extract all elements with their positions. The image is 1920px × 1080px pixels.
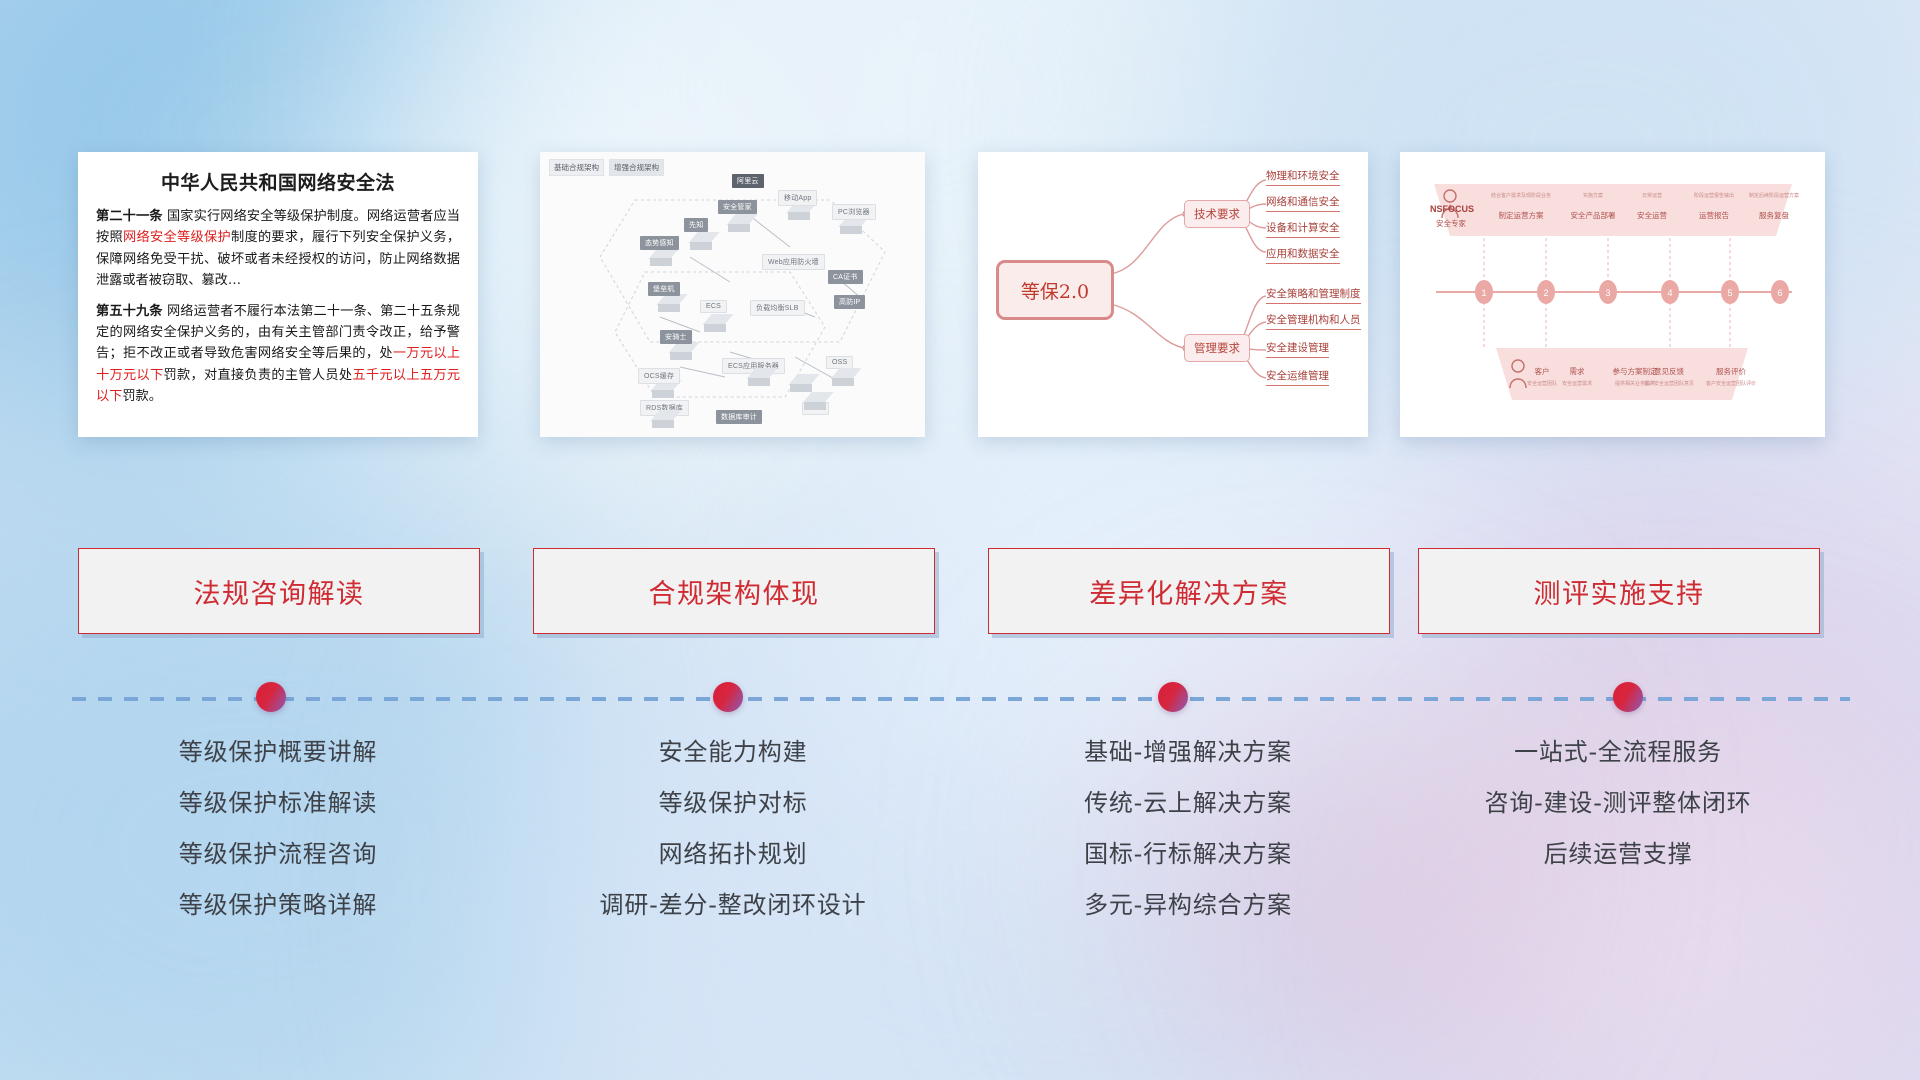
list-item: 等级保护标准解读 — [78, 791, 478, 815]
list-item: 等级保护策略详解 — [78, 893, 478, 917]
svg-text:1: 1 — [1481, 288, 1486, 298]
image-card-row: 中华人民共和国网络安全法 第二十一条 国家实行网络安全等级保护制度。网络运营者应… — [0, 152, 1920, 442]
top-step-note-2: 实施方案 — [1560, 192, 1626, 199]
mindmap-leaf-org: 安全管理机构和人员 — [1266, 312, 1361, 330]
list-item: 调研-差分-整改闭环设计 — [533, 893, 933, 917]
node-xianzhi: 先知 — [684, 218, 708, 232]
article-21-highlight: 网络安全等级保护 — [123, 230, 231, 245]
section-item-list-1: 等级保护概要讲解 等级保护标准解读 等级保护流程咨询 等级保护策略详解 — [78, 740, 478, 944]
mindmap-leaf-construction: 安全建设管理 — [1266, 340, 1329, 358]
node-bastion-host: 堡垒机 — [648, 282, 680, 296]
node-situational-awareness: 态势感知 — [640, 236, 679, 250]
expert-role: 安全专家 — [1430, 218, 1472, 229]
node-aliyun: 阿里云 — [732, 174, 764, 188]
node-anti-ddos-ip: 高防IP — [834, 295, 865, 309]
node-ecs: ECS — [700, 300, 727, 313]
law-article-21: 第二十一条 国家实行网络安全等级保护制度。网络运营者应当按照网络安全等级保护制度… — [96, 206, 460, 292]
svg-text:5: 5 — [1727, 288, 1732, 298]
architecture-connectors — [540, 152, 925, 437]
list-item: 咨询-建设-测评整体闭环 — [1418, 791, 1818, 815]
bottom-step-note-1: 安全运营需求 — [1550, 380, 1604, 387]
list-item: 传统-云上解决方案 — [988, 791, 1388, 815]
top-step-note-3: 日常运营 — [1624, 192, 1680, 199]
top-step-title-2: 安全产品部署 — [1560, 210, 1626, 221]
mindmap-leaf-network: 网络和通信安全 — [1266, 194, 1340, 212]
svg-text:4: 4 — [1667, 288, 1672, 298]
section-item-list-3: 基础-增强解决方案 传统-云上解决方案 国标-行标解决方案 多元-异构综合方案 — [988, 740, 1388, 944]
article-21-label: 第二十一条 — [96, 209, 163, 224]
article-59-label: 第五十九条 — [96, 304, 163, 319]
bottom-step-title-3: 意见反馈 — [1644, 366, 1694, 377]
article-59-part2: 罚款，对直接负责的主管人员处 — [163, 368, 352, 383]
section-title-box-2[interactable]: 合规架构体现 — [533, 548, 935, 634]
node-mobile-app: 移动App — [778, 190, 817, 206]
list-item: 等级保护流程咨询 — [78, 842, 478, 866]
card-process-timeline: 123 456 NSFOCUS 安全专家 客户 安全运营团队 结合客户需求及现阶… — [1400, 152, 1825, 437]
timeline-dashed-line — [72, 697, 1850, 701]
section-title-box-4[interactable]: 测评实施支持 — [1418, 548, 1820, 634]
mindmap-leaf-application: 应用和数据安全 — [1266, 246, 1340, 264]
timeline-dot-1 — [256, 682, 286, 712]
list-item: 安全能力构建 — [533, 740, 933, 764]
node-pc-browser: PC浏览器 — [832, 204, 876, 220]
node-security-butler: 安全管家 — [718, 200, 757, 214]
article-59-part3: 罚款。 — [122, 389, 162, 404]
section-title-label-3: 差异化解决方案 — [1089, 572, 1289, 611]
top-step-title-5: 服务复盘 — [1742, 210, 1806, 221]
list-item: 等级保护概要讲解 — [78, 740, 478, 764]
top-step-note-4: 阶段运营报告输出 — [1682, 192, 1746, 199]
top-step-title-3: 安全运营 — [1624, 210, 1680, 221]
section-item-list-2: 安全能力构建 等级保护对标 网络拓扑规划 调研-差分-整改闭环设计 — [533, 740, 933, 944]
list-item: 多元-异构综合方案 — [988, 893, 1388, 917]
bottom-step-title-1: 需求 — [1560, 366, 1594, 377]
mindmap-branch-management: 管理要求 — [1184, 334, 1250, 362]
node-anqishi: 安骑士 — [660, 330, 692, 344]
section-title-label-4: 测评实施支持 — [1534, 572, 1705, 611]
timeline-dot-4 — [1613, 682, 1643, 712]
node-ocs-cache: OCS缓存 — [638, 368, 680, 384]
svg-text:2: 2 — [1543, 288, 1548, 298]
law-article-59: 第五十九条 网络运营者不履行本法第二十一条、第二十五条规定的网络安全保护义务的，… — [96, 301, 460, 408]
list-item: 后续运营支撑 — [1418, 842, 1818, 866]
node-ca-cert: CA证书 — [828, 270, 863, 284]
section-item-list-4: 一站式-全流程服务 咨询-建设-测评整体闭环 后续运营支撑 — [1418, 740, 1818, 893]
list-item: 基础-增强解决方案 — [988, 740, 1388, 764]
mindmap-root: 等保2.0 — [996, 260, 1114, 320]
list-item: 一站式-全流程服务 — [1418, 740, 1818, 764]
mindmap-branch-technical: 技术要求 — [1184, 200, 1250, 228]
node-slb: 负载均衡SLB — [750, 300, 805, 316]
list-item: 等级保护对标 — [533, 791, 933, 815]
node-waf: Web应用防火墙 — [762, 254, 825, 270]
mindmap-leaf-device: 设备和计算安全 — [1266, 220, 1340, 238]
node-db-audit: 数据库审计 — [716, 410, 762, 424]
top-step-title-4: 运营报告 — [1682, 210, 1746, 221]
top-step-title-1: 制定运营方案 — [1482, 210, 1560, 221]
bottom-step-title-4: 服务评价 — [1706, 366, 1756, 377]
bottom-step-note-4: 客户安全运营团队评价 — [1696, 380, 1766, 387]
card-law-text: 中华人民共和国网络安全法 第二十一条 国家实行网络安全等级保护制度。网络运营者应… — [78, 152, 478, 437]
customer-role: 客户 — [1526, 366, 1558, 377]
card-cloud-architecture: 基础合规架构 增强合规架构 阿里云 — [540, 152, 925, 437]
section-title-label-2: 合规架构体现 — [649, 572, 820, 611]
section-title-row: 法规咨询解读 合规架构体现 差异化解决方案 测评实施支持 — [0, 548, 1920, 638]
section-title-box-1[interactable]: 法规咨询解读 — [78, 548, 480, 634]
section-title-box-3[interactable]: 差异化解决方案 — [988, 548, 1390, 634]
timeline-dot-2 — [713, 682, 743, 712]
card-mindmap: 等保2.0 技术要求 管理要求 物理和环境安全 网络和通信安全 设备和计算安全 … — [978, 152, 1368, 437]
list-item: 国标-行标解决方案 — [988, 842, 1388, 866]
mindmap-leaf-policy: 安全策略和管理制度 — [1266, 286, 1361, 304]
law-title: 中华人民共和国网络安全法 — [96, 168, 460, 195]
mindmap-leaf-physical: 物理和环境安全 — [1266, 168, 1340, 186]
timeline-dot-3 — [1158, 682, 1188, 712]
section-title-label-1: 法规咨询解读 — [194, 572, 365, 611]
top-step-note-1: 结合客户需求及现阶段业务 — [1482, 192, 1560, 199]
expert-brand: NSFOCUS — [1430, 204, 1472, 214]
bottom-step-note-3: 客户安全运营团队意见 — [1634, 380, 1704, 387]
list-item: 网络拓扑规划 — [533, 842, 933, 866]
top-step-note-5: 制定后续阶段运营方案 — [1742, 192, 1806, 199]
mindmap-leaf-ops: 安全运维管理 — [1266, 368, 1329, 386]
svg-text:6: 6 — [1777, 288, 1782, 298]
svg-text:3: 3 — [1605, 288, 1610, 298]
